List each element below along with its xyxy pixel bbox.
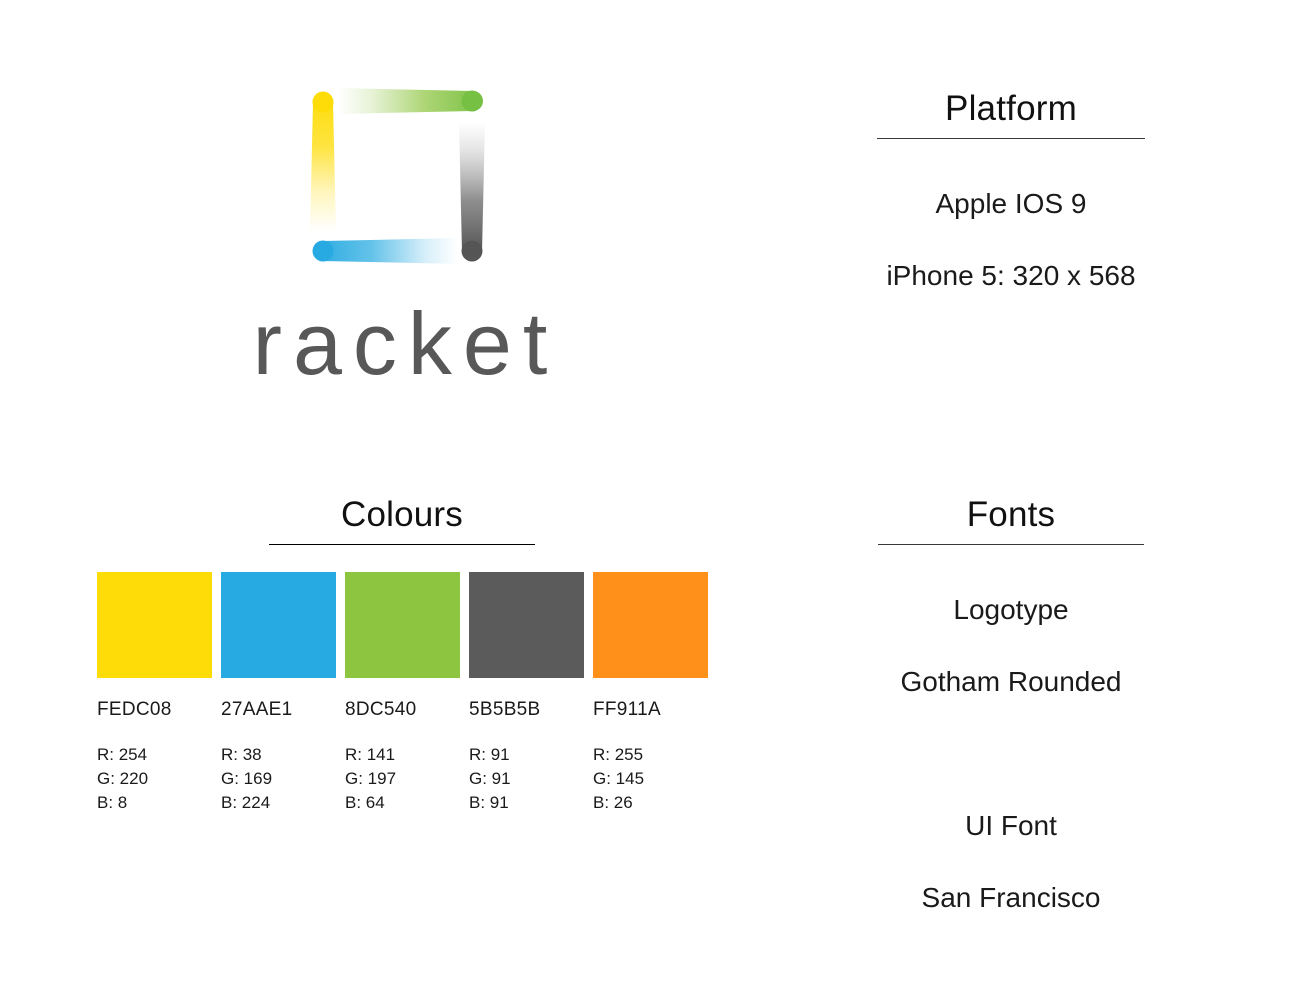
colour-swatch-item: 5B5B5B R: 91 G: 91 B: 91 xyxy=(469,572,584,815)
colour-chip xyxy=(469,572,584,678)
colour-rgb-r: R: 38 xyxy=(221,743,336,767)
colours-heading-rule xyxy=(269,544,535,545)
colour-rgb-g: G: 169 xyxy=(221,767,336,791)
font-role-label: UI Font xyxy=(860,804,1162,848)
fonts-heading-text: Fonts xyxy=(860,494,1162,536)
colour-chip xyxy=(593,572,708,678)
logo-cap-grey xyxy=(462,241,483,262)
colour-hex-label: FF911A xyxy=(593,698,708,721)
brand-logo-block: racket xyxy=(240,60,560,390)
platform-os: Apple IOS 9 xyxy=(860,182,1162,226)
font-name-value: Gotham Rounded xyxy=(860,660,1162,704)
colour-rgb-b: B: 91 xyxy=(469,791,584,815)
colour-rgb-g: G: 220 xyxy=(97,767,212,791)
colour-rgb-r: R: 91 xyxy=(469,743,584,767)
colour-rgb-values: R: 255 G: 145 B: 26 xyxy=(593,743,708,815)
platform-section-heading: Platform xyxy=(860,88,1162,139)
colours-heading-text: Colours xyxy=(252,494,552,536)
platform-heading-text: Platform xyxy=(860,88,1162,130)
colour-rgb-b: B: 224 xyxy=(221,791,336,815)
fonts-section-heading: Fonts xyxy=(860,494,1162,545)
logo-cap-yellow xyxy=(313,92,334,113)
colour-chip xyxy=(345,572,460,678)
racket-logo-mark xyxy=(240,60,560,290)
colour-hex-label: 27AAE1 xyxy=(221,698,336,721)
logo-stroke-grey xyxy=(459,122,485,252)
colour-rgb-b: B: 64 xyxy=(345,791,460,815)
colour-chip xyxy=(97,572,212,678)
colour-swatch-item: FEDC08 R: 254 G: 220 B: 8 xyxy=(97,572,212,815)
colour-swatch-item: 8DC540 R: 141 G: 197 B: 64 xyxy=(345,572,460,815)
logo-stroke-blue xyxy=(313,238,458,264)
font-entry-logotype: Logotype Gotham Rounded xyxy=(860,588,1162,704)
platform-device-resolution: iPhone 5: 320 x 568 xyxy=(860,254,1162,298)
colour-rgb-g: G: 91 xyxy=(469,767,584,791)
colour-rgb-r: R: 254 xyxy=(97,743,212,767)
colour-hex-label: FEDC08 xyxy=(97,698,212,721)
colour-rgb-values: R: 254 G: 220 B: 8 xyxy=(97,743,212,815)
fonts-heading-rule xyxy=(878,544,1144,545)
colour-rgb-b: B: 8 xyxy=(97,791,212,815)
font-role-label: Logotype xyxy=(860,588,1162,632)
colour-swatch-row: FEDC08 R: 254 G: 220 B: 8 27AAE1 R: 38 G… xyxy=(97,572,709,815)
colour-rgb-r: R: 255 xyxy=(593,743,708,767)
logo-stroke-green xyxy=(338,88,483,114)
font-entry-ui: UI Font San Francisco xyxy=(860,804,1162,920)
colour-rgb-b: B: 26 xyxy=(593,791,708,815)
colour-rgb-g: G: 197 xyxy=(345,767,460,791)
colour-swatch-item: FF911A R: 255 G: 145 B: 26 xyxy=(593,572,708,815)
platform-heading-rule xyxy=(877,138,1145,139)
colour-rgb-g: G: 145 xyxy=(593,767,708,791)
colour-rgb-r: R: 141 xyxy=(345,743,460,767)
colour-rgb-values: R: 38 G: 169 B: 224 xyxy=(221,743,336,815)
colour-chip xyxy=(221,572,336,678)
colour-hex-label: 5B5B5B xyxy=(469,698,584,721)
colour-rgb-values: R: 141 G: 197 B: 64 xyxy=(345,743,460,815)
logo-cap-blue xyxy=(313,241,334,262)
colours-section-heading: Colours xyxy=(252,494,552,545)
logo-stroke-yellow xyxy=(310,92,336,232)
platform-details: Apple IOS 9 iPhone 5: 320 x 568 xyxy=(860,182,1162,298)
font-name-value: San Francisco xyxy=(860,876,1162,920)
colour-swatch-item: 27AAE1 R: 38 G: 169 B: 224 xyxy=(221,572,336,815)
logo-cap-green xyxy=(462,91,483,112)
colour-hex-label: 8DC540 xyxy=(345,698,460,721)
brand-wordmark: racket xyxy=(240,292,560,396)
colour-rgb-values: R: 91 G: 91 B: 91 xyxy=(469,743,584,815)
